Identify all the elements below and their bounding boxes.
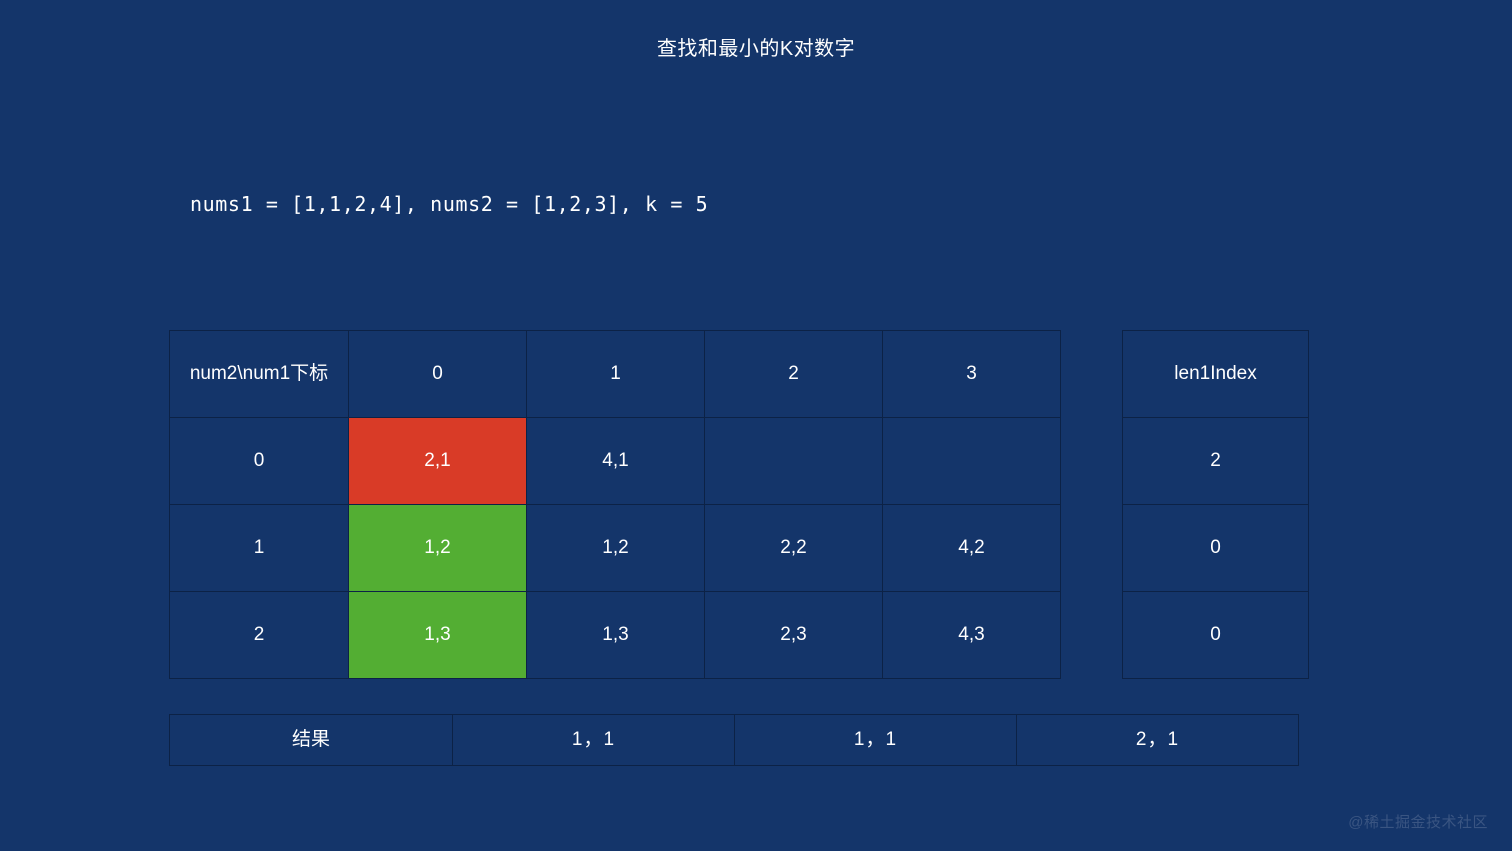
grid-column-header-2: 2: [705, 331, 883, 418]
grid-cell-r2c3: 4,3: [883, 592, 1061, 679]
result-table: 结果 1，1 1，1 2，1: [169, 714, 1299, 766]
grid-row: 1 1,2 1,2 2,2 4,2: [170, 505, 1061, 592]
len1index-value-2: 0: [1123, 592, 1309, 679]
grid-cell-r2c2: 2,3: [705, 592, 883, 679]
grid-cell-r0c2: [705, 418, 883, 505]
grid-column-header-3: 3: [883, 331, 1061, 418]
grid-cell-r2c0: 1,3: [349, 592, 527, 679]
grid-corner-header: num2\num1下标: [170, 331, 349, 418]
pair-sum-grid-table: num2\num1下标 0 1 2 3 0 2,1 4,1 1 1,2 1,2 …: [169, 330, 1061, 679]
len1index-table: len1Index 2 0 0: [1122, 330, 1309, 679]
result-value-2: 2，1: [1017, 715, 1299, 766]
grid-cell-r1c1: 1,2: [527, 505, 705, 592]
grid-cell-r0c0: 2,1: [349, 418, 527, 505]
grid-row-header-0: 0: [170, 418, 349, 505]
grid-header-row: num2\num1下标 0 1 2 3: [170, 331, 1061, 418]
page-title: 查找和最小的K对数字: [0, 34, 1512, 64]
len1index-header: len1Index: [1123, 331, 1309, 418]
grid-cell-r1c3: 4,2: [883, 505, 1061, 592]
len1index-row: 0: [1123, 592, 1309, 679]
grid-cell-r1c0: 1,2: [349, 505, 527, 592]
grid-row: 0 2,1 4,1: [170, 418, 1061, 505]
grid-cell-r1c2: 2,2: [705, 505, 883, 592]
grid-column-header-0: 0: [349, 331, 527, 418]
grid-row-header-1: 1: [170, 505, 349, 592]
len1index-header-row: len1Index: [1123, 331, 1309, 418]
len1index-row: 0: [1123, 505, 1309, 592]
len1index-value-0: 2: [1123, 418, 1309, 505]
result-value-0: 1，1: [453, 715, 735, 766]
watermark: @稀土掘金技术社区: [1348, 813, 1488, 833]
grid-row: 2 1,3 1,3 2,3 4,3: [170, 592, 1061, 679]
result-row: 结果 1，1 1，1 2，1: [170, 715, 1299, 766]
len1index-row: 2: [1123, 418, 1309, 505]
grid-cell-r0c3: [883, 418, 1061, 505]
len1index-value-1: 0: [1123, 505, 1309, 592]
grid-row-header-2: 2: [170, 592, 349, 679]
params-code-line: nums1 = [1,1,2,4], nums2 = [1,2,3], k = …: [190, 190, 708, 218]
grid-cell-r2c1: 1,3: [527, 592, 705, 679]
result-value-1: 1，1: [735, 715, 1017, 766]
grid-column-header-1: 1: [527, 331, 705, 418]
result-label: 结果: [170, 715, 453, 766]
grid-cell-r0c1: 4,1: [527, 418, 705, 505]
slide-canvas: 查找和最小的K对数字 nums1 = [1,1,2,4], nums2 = [1…: [0, 0, 1512, 851]
